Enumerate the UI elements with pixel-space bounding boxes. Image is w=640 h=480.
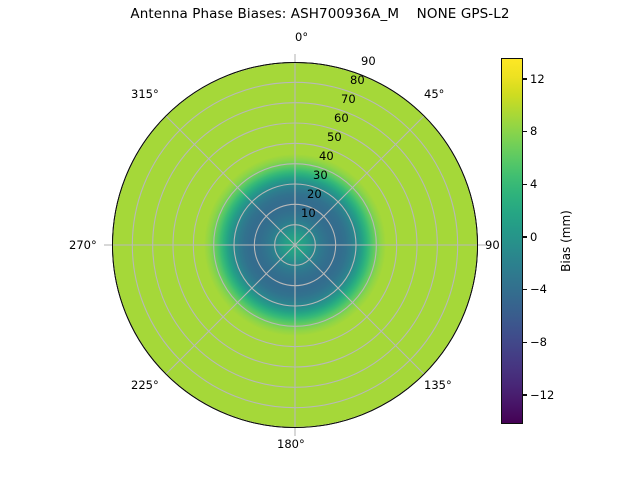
azimuth-label-225: 225° — [131, 378, 159, 392]
azimuth-label-270: 270° — [69, 238, 97, 252]
colorbar-tick-mark — [523, 394, 527, 395]
polar-grid-spoke-225 — [166, 245, 295, 374]
colorbar-tick-label: 12 — [530, 72, 545, 86]
colorbar-tick-mark — [523, 342, 527, 343]
azimuth-label-45: 45° — [424, 87, 444, 101]
azimuth-label-135: 135° — [424, 378, 452, 392]
colorbar-tick-label: 0 — [530, 230, 537, 244]
figure-canvas: Antenna Phase Biases: ASH700936A_M NONE … — [0, 0, 640, 480]
polar-grid-spoke-315 — [166, 116, 295, 245]
colorbar-tick-mark — [523, 131, 527, 132]
radial-label-90: 90 — [361, 54, 376, 68]
radial-label-80: 80 — [350, 73, 365, 87]
colorbar-title: Bias (mm) — [559, 210, 573, 272]
colorbar-tick-mark — [523, 78, 527, 79]
azimuth-label-90: 90 — [485, 238, 500, 252]
radial-label-50: 50 — [327, 130, 342, 144]
page-title: Antenna Phase Biases: ASH700936A_M NONE … — [0, 6, 640, 22]
radial-label-30: 30 — [313, 168, 328, 182]
radial-label-20: 20 — [307, 187, 322, 201]
colorbar-tick-label: −4 — [530, 282, 547, 296]
polar-gridlines — [112, 62, 478, 428]
colorbar-tick-label: 4 — [530, 177, 537, 191]
colorbar-gradient — [502, 59, 522, 423]
radial-label-70: 70 — [341, 92, 356, 106]
colorbar-tick-mark — [523, 236, 527, 237]
radial-label-60: 60 — [334, 111, 349, 125]
colorbar-tick-mark — [523, 289, 527, 290]
azimuth-label-0: 0° — [295, 30, 308, 44]
colorbar-tick-label: −8 — [530, 335, 547, 349]
colorbar-ticks: 12840−4−8−12 — [523, 58, 583, 424]
radial-label-40: 40 — [319, 149, 334, 163]
colorbar — [501, 58, 523, 424]
polar-grid-spoke-135 — [295, 245, 424, 374]
colorbar-tick-label: 8 — [530, 124, 537, 138]
colorbar-tick-label: −12 — [530, 388, 554, 402]
radial-label-10: 10 — [301, 206, 316, 220]
polar-axes — [112, 62, 478, 428]
azimuth-label-180: 180° — [277, 437, 305, 451]
azimuth-label-315: 315° — [131, 87, 159, 101]
colorbar-tick-mark — [523, 184, 527, 185]
